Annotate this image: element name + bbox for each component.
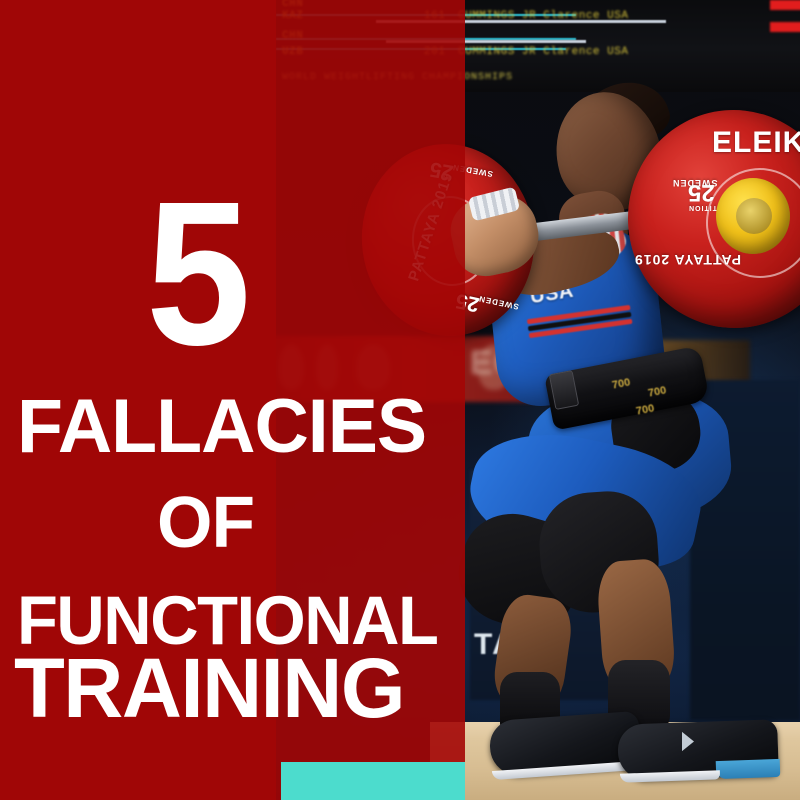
title-block: 5 FALLACIES OF FUNCTIONAL TRAINING xyxy=(0,0,800,800)
title-line-training: TRAINING xyxy=(14,652,404,726)
title-number: 5 xyxy=(146,184,247,364)
title-line-of: OF xyxy=(157,492,254,555)
poster-canvas: CHN KAZ 161 CUMMINGS JR Clarence USA CHN… xyxy=(0,0,800,800)
teal-accent-bar xyxy=(281,762,465,800)
title-line-fallacies: FALLACIES xyxy=(17,394,426,461)
